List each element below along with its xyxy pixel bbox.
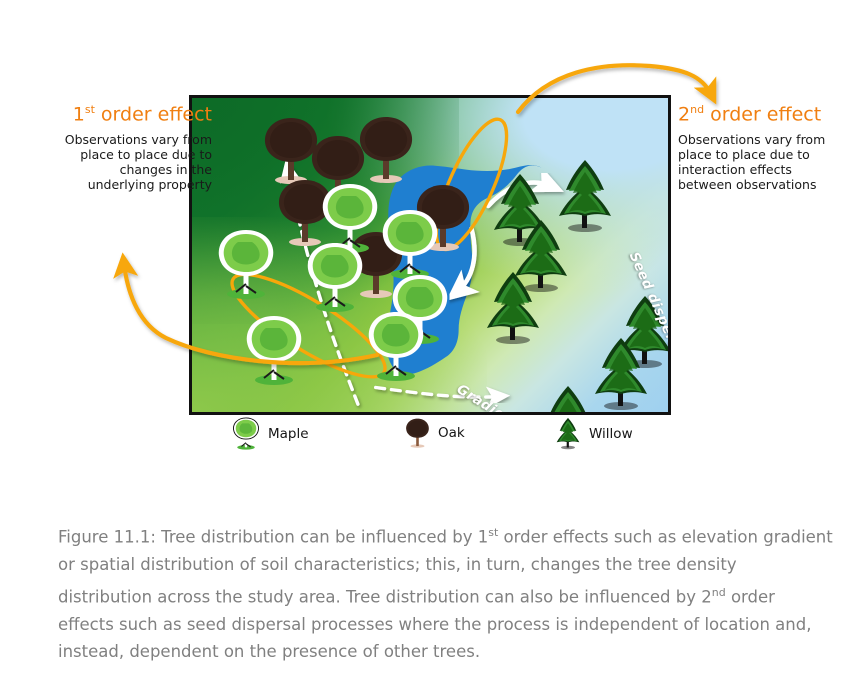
first-order-number: 1 bbox=[73, 103, 85, 125]
caption-ordinal-nd: nd bbox=[712, 586, 726, 599]
tree-maple bbox=[242, 314, 306, 388]
oak-icon bbox=[404, 417, 431, 449]
tree-willow bbox=[537, 384, 599, 415]
legend-label-maple: Maple bbox=[268, 426, 309, 442]
study-area-map: Seed dispersal Gradient/soil type bbox=[189, 95, 671, 415]
second-order-number: 2 bbox=[678, 103, 690, 125]
second-order-heading-rest: order effect bbox=[704, 103, 821, 125]
annotation-first-order-effect: 1st order effect Observations vary from … bbox=[62, 100, 212, 192]
caption-ordinal-st: st bbox=[488, 526, 498, 539]
tree-maple bbox=[364, 310, 428, 384]
tree-willow bbox=[482, 270, 544, 348]
tree-maple bbox=[303, 241, 367, 315]
second-order-ordinal: nd bbox=[690, 103, 704, 116]
maple-icon bbox=[231, 417, 261, 451]
legend-label-willow: Willow bbox=[589, 426, 633, 442]
legend-item-willow: Willow bbox=[554, 417, 633, 451]
caption-prefix: Figure 11.1: Tree distribution can be in… bbox=[58, 528, 488, 547]
map-legend: Maple Oak Willow bbox=[189, 417, 671, 459]
legend-item-oak: Oak bbox=[404, 417, 465, 449]
tree-oak bbox=[355, 115, 417, 185]
legend-item-maple: Maple bbox=[231, 417, 309, 451]
annotation-second-order-body: Observations vary from place to place du… bbox=[678, 132, 828, 192]
first-order-heading-rest: order effect bbox=[95, 103, 212, 125]
annotation-first-order-body: Observations vary from place to place du… bbox=[62, 132, 212, 192]
figure-caption: Figure 11.1: Tree distribution can be in… bbox=[58, 519, 833, 666]
legend-label-oak: Oak bbox=[438, 425, 465, 441]
tree-maple bbox=[214, 228, 278, 302]
first-order-ordinal: st bbox=[85, 103, 95, 116]
tree-willow bbox=[590, 336, 652, 414]
willow-icon bbox=[554, 417, 582, 451]
annotation-second-order-heading: 2nd order effect bbox=[678, 100, 828, 124]
tree-maple bbox=[378, 208, 442, 282]
annotation-first-order-heading: 1st order effect bbox=[62, 100, 212, 124]
annotation-second-order-effect: 2nd order effect Observations vary from … bbox=[678, 100, 828, 192]
figure-block: Seed dispersal Gradient/soil type 1st or… bbox=[0, 0, 865, 500]
dashed-arrow-down bbox=[376, 387, 500, 397]
